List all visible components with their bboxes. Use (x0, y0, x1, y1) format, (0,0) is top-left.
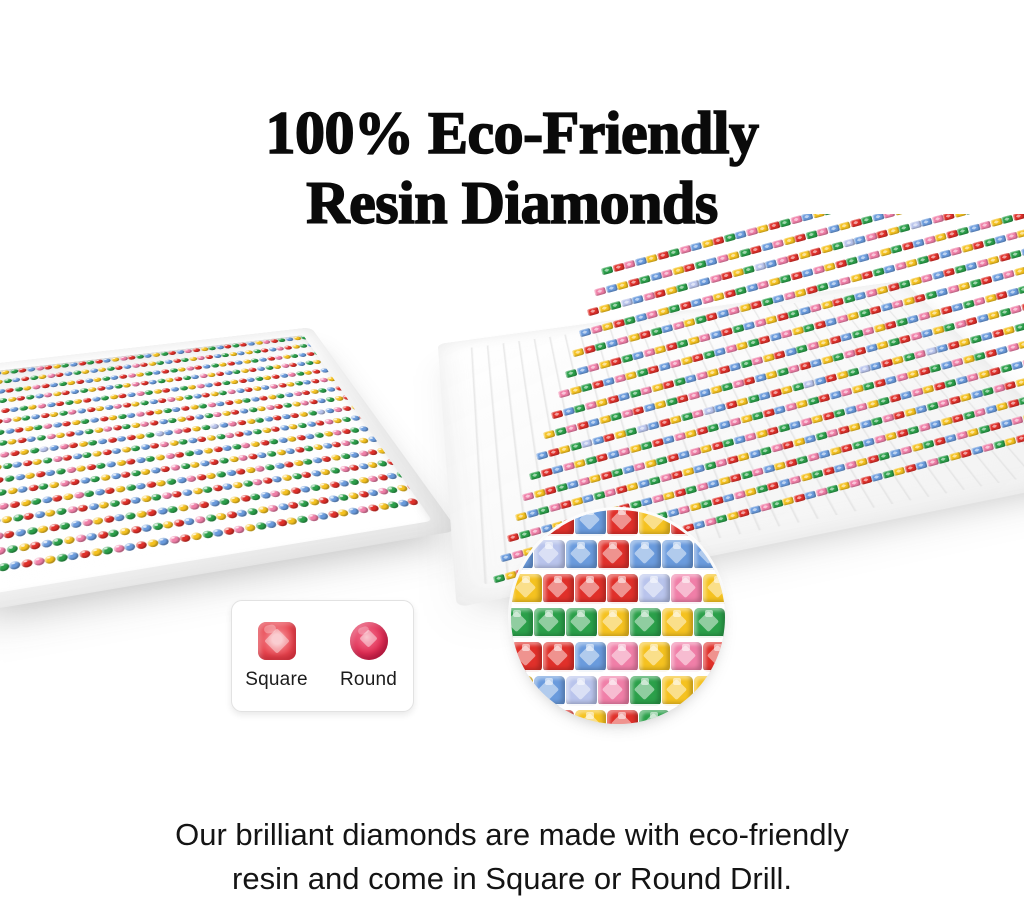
drill-bead (581, 438, 593, 447)
drill-bead (375, 412, 387, 418)
drill-bead (49, 523, 60, 532)
drill-bead (84, 428, 94, 434)
drill-bead (932, 270, 944, 279)
drill-bead (46, 433, 56, 440)
drill-bead (654, 344, 666, 353)
drill-bead (748, 449, 760, 458)
drill-bead (99, 416, 109, 422)
drill-bead (728, 306, 740, 315)
drill-bead (52, 421, 62, 427)
drill-bead (20, 448, 30, 455)
drill-bead (854, 346, 866, 355)
drill-bead (980, 331, 992, 340)
drill-bead (50, 382, 59, 387)
drill-bead (147, 344, 156, 349)
drill-bead (243, 523, 256, 532)
drill-bead (675, 283, 687, 292)
drill-bead (812, 214, 824, 219)
drill-bead (891, 299, 903, 308)
drill-bead (672, 265, 684, 274)
drill-bead (529, 471, 541, 480)
drill-bead (130, 496, 142, 504)
drill-bead (358, 372, 369, 377)
drill-bead (408, 396, 420, 402)
drill-bead (181, 489, 193, 497)
drill-bead (73, 398, 82, 404)
drill-bead (618, 447, 630, 456)
drill-bead (594, 342, 606, 351)
drill-bead (942, 214, 954, 221)
left-tray-round-drills (0, 258, 386, 618)
drill-bead (1009, 249, 1021, 258)
drill-bead (860, 215, 872, 224)
drill-bead (570, 497, 582, 506)
drill-bead (844, 405, 856, 414)
left-tray-body (0, 327, 458, 614)
drill-bead (781, 385, 793, 394)
drill-bead (342, 374, 353, 379)
drill-bead (78, 440, 88, 447)
drill-bead (998, 252, 1010, 261)
legend-item-round[interactable]: Round (336, 622, 402, 691)
drill-bead (705, 256, 717, 265)
drill-bead (566, 676, 597, 706)
drill-bead (114, 513, 126, 521)
drill-bead (359, 336, 369, 341)
bead-row-gap (511, 670, 725, 675)
page-caption: Our brilliant diamonds are made with eco… (42, 813, 982, 901)
drill-bead (734, 230, 746, 239)
drill-bead (99, 350, 108, 355)
drill-bead (402, 431, 414, 438)
drill-bead (543, 710, 574, 724)
drill-bead (0, 464, 2, 471)
drill-bead (89, 368, 98, 373)
drill-bead (627, 277, 639, 286)
drill-bead (690, 242, 702, 251)
drill-bead (817, 282, 829, 291)
drill-bead (415, 385, 426, 391)
drill-bead (71, 519, 82, 528)
drill-bead (125, 511, 137, 519)
drill-bead (913, 294, 925, 303)
drill-bead (837, 481, 849, 490)
drill-bead (720, 327, 732, 336)
drill-bead (394, 457, 407, 464)
drill-bead (738, 248, 750, 257)
drill-bead (894, 214, 906, 215)
drill-bead (969, 279, 981, 288)
drill-bead (96, 462, 107, 469)
drill-bead (911, 387, 923, 396)
drill-bead (677, 450, 689, 459)
drill-bead (898, 223, 910, 232)
drill-bead (229, 496, 241, 504)
drill-bead (931, 214, 943, 223)
drill-bead (12, 416, 21, 422)
drill-bead (598, 304, 610, 313)
drill-bead (792, 437, 804, 446)
drill-bead (660, 268, 672, 277)
drill-bead (558, 389, 570, 398)
drill-bead (29, 447, 39, 454)
drill-bead (50, 355, 59, 360)
drill-bead (140, 468, 151, 475)
drill-bead (511, 608, 533, 638)
drill-bead (909, 276, 921, 285)
drill-bead (1006, 287, 1018, 296)
drill-bead (55, 372, 64, 377)
drill-bead (825, 373, 837, 382)
drill-bead (566, 424, 578, 433)
drill-bead (632, 350, 644, 359)
drill-bead (810, 358, 822, 367)
drill-bead (79, 549, 91, 558)
drill-bead (860, 475, 872, 484)
drill-bead (1018, 395, 1024, 404)
drill-bead (140, 400, 150, 406)
drill-bead (953, 214, 965, 218)
drill-bead (928, 253, 940, 262)
bead-row (511, 710, 725, 724)
left-tray-bead-field (0, 335, 432, 595)
drill-bead (38, 374, 47, 379)
drill-bead (669, 415, 681, 424)
drill-bead (393, 432, 405, 439)
drill-bead (37, 403, 46, 409)
drill-bead (366, 402, 377, 408)
drill-bead (731, 268, 743, 277)
drill-bead (52, 456, 62, 463)
drill-bead (694, 676, 725, 706)
drill-bead (358, 392, 369, 398)
drill-bead (917, 311, 929, 320)
drill-bead (35, 366, 44, 371)
drill-bead (315, 335, 325, 338)
drill-bead (0, 476, 4, 484)
drill-bead (22, 460, 32, 467)
drill-bead (27, 436, 37, 443)
drill-bead (41, 356, 50, 361)
drill-bead (878, 452, 890, 461)
drill-bead (588, 418, 600, 427)
drill-bead (842, 238, 854, 247)
drill-bead (841, 443, 853, 452)
drill-bead (965, 317, 977, 326)
drill-bead (577, 476, 589, 485)
drill-bead (610, 412, 622, 421)
drill-bead (10, 369, 19, 374)
drill-bead (28, 484, 39, 492)
drill-bead (924, 291, 936, 300)
drill-bead (971, 445, 983, 454)
drill-bead (640, 441, 652, 450)
drill-bead (398, 367, 409, 372)
drill-bead (796, 399, 808, 408)
drill-bead (5, 428, 14, 434)
drill-bead (903, 408, 915, 417)
drill-bead (120, 498, 131, 506)
drill-bead (630, 540, 661, 570)
bead-row-gap (511, 636, 725, 641)
drill-bead (813, 320, 825, 329)
drill-bead (698, 333, 710, 342)
drill-bead (699, 388, 711, 397)
drill-bead (884, 376, 896, 385)
drill-bead (43, 392, 52, 398)
drill-bead (979, 220, 991, 229)
drill-bead (630, 676, 661, 706)
drill-bead (27, 367, 36, 372)
drill-bead (703, 510, 725, 536)
drill-bead (603, 488, 615, 497)
drill-bead (735, 341, 747, 350)
drill-bead (673, 377, 685, 386)
drill-bead (883, 214, 895, 218)
drill-bead (995, 290, 1007, 299)
drill-bead (97, 530, 109, 539)
drill-bead (511, 540, 533, 570)
drill-bead (896, 373, 908, 382)
drill-bead (900, 446, 912, 455)
drill-bead (413, 454, 426, 461)
drill-bead (145, 431, 155, 438)
drill-bead (75, 534, 87, 543)
drill-bead (160, 369, 169, 374)
drill-bead (56, 467, 66, 474)
drill-bead (658, 362, 670, 371)
drill-bead (833, 463, 845, 472)
drill-bead (994, 235, 1006, 244)
drill-bead (944, 378, 956, 387)
drill-bead (375, 401, 386, 407)
drill-bead (922, 440, 934, 449)
drill-bead (620, 353, 632, 362)
drill-bead (721, 382, 733, 391)
square-drill-icon (258, 622, 296, 660)
drill-bead (116, 435, 126, 442)
drill-bead (849, 218, 861, 227)
drill-bead (587, 362, 599, 371)
drill-bead (146, 508, 158, 516)
drill-bead (384, 410, 396, 416)
drill-bead (374, 361, 385, 366)
drill-bead (390, 368, 401, 373)
drill-bead (551, 409, 563, 418)
drill-bead (1016, 229, 1024, 238)
drill-bead (787, 309, 799, 318)
drill-bead (745, 487, 757, 496)
drill-bead (802, 268, 814, 277)
drill-bead (417, 406, 429, 412)
drill-bead (18, 368, 27, 373)
drill-bead (375, 380, 386, 385)
drill-bead (124, 542, 136, 551)
drill-bead (358, 382, 369, 387)
drill-bead (736, 397, 748, 406)
drill-bead (750, 300, 762, 309)
drill-bead (180, 405, 190, 411)
drill-bead (544, 485, 556, 494)
drill-bead (832, 297, 844, 306)
drill-bead (712, 236, 724, 245)
drill-bead (644, 459, 656, 468)
drill-bead (33, 556, 45, 566)
drill-bead (66, 353, 75, 358)
drill-bead (587, 307, 599, 316)
drill-bead (0, 502, 9, 510)
drill-bead (366, 362, 377, 367)
drill-bead (591, 380, 603, 389)
drill-bead (676, 338, 688, 347)
drill-bead (8, 360, 16, 365)
drill-bead (144, 389, 154, 395)
drill-bead (684, 374, 696, 383)
drill-bead (359, 363, 370, 368)
drill-bead (989, 422, 1001, 431)
drill-bead (135, 372, 144, 377)
drill-bead (575, 574, 606, 604)
drill-bead (569, 386, 581, 395)
drill-bead (425, 394, 433, 400)
drill-bead (155, 343, 164, 348)
drill-bead (877, 396, 889, 405)
drill-bead (909, 220, 921, 229)
drill-bead (670, 470, 682, 479)
drill-bead (572, 348, 584, 357)
drill-bead (799, 417, 811, 426)
legend-item-square[interactable]: Square (244, 622, 310, 691)
drill-bead (46, 469, 56, 476)
drill-bead (95, 406, 105, 412)
drill-bead (947, 285, 959, 294)
drill-bead (847, 367, 859, 376)
drill-bead (198, 500, 210, 508)
drill-bead (565, 368, 577, 377)
drill-bead (666, 453, 678, 462)
drill-bead (598, 676, 629, 706)
drill-bead (393, 420, 405, 426)
drill-bead (202, 338, 211, 343)
drill-bead (882, 469, 894, 478)
drill-bead (957, 226, 969, 235)
drill-bead (973, 352, 985, 361)
drill-bead (606, 394, 618, 403)
drill-bead (609, 356, 621, 365)
drill-bead (110, 375, 119, 380)
drill-bead (335, 356, 345, 361)
drill-bead (92, 516, 104, 525)
drill-bead (90, 547, 102, 556)
drill-bead (56, 507, 67, 515)
drill-bead (695, 371, 707, 380)
drill-bead (79, 388, 88, 394)
drill-bead (2, 462, 12, 469)
drill-bead (321, 349, 331, 354)
drill-bead (722, 438, 734, 447)
drill-bead (868, 250, 880, 259)
drill-bead (328, 348, 338, 353)
drill-bead (543, 642, 574, 672)
drill-bead (74, 353, 83, 358)
drill-bead (56, 553, 68, 563)
drill-bead (404, 456, 417, 463)
drill-bead (580, 383, 592, 392)
drill-bead (602, 321, 614, 330)
drill-bead (811, 469, 823, 478)
drill-bead (902, 296, 914, 305)
drill-bead (170, 386, 180, 392)
drill-bead (113, 544, 125, 553)
drill-bead (801, 214, 813, 222)
drill-bead (729, 417, 741, 426)
drill-bead (52, 494, 63, 502)
drill-bead (399, 377, 410, 382)
drill-bead (914, 349, 926, 358)
drill-bead (366, 391, 377, 397)
drill-bead (375, 435, 387, 442)
drill-bead (607, 510, 638, 536)
drill-bead (573, 459, 585, 468)
drill-bead (80, 477, 91, 485)
drill-bead (118, 374, 127, 379)
drill-bead (837, 425, 849, 434)
drill-bead (967, 428, 979, 437)
drill-bead (334, 375, 345, 380)
drill-bead (21, 415, 30, 421)
drill-bead (106, 460, 117, 467)
drill-bead (647, 420, 659, 429)
drill-bead (790, 215, 802, 224)
drill-bead (600, 470, 612, 479)
drill-bead (977, 369, 989, 378)
drill-bead (705, 312, 717, 321)
drill-bead (1004, 436, 1016, 445)
drill-bead (1014, 322, 1024, 331)
drill-bead (566, 608, 597, 638)
drill-bead (598, 608, 629, 638)
drill-bead (779, 274, 791, 283)
drill-bead (876, 285, 888, 294)
drill-bead (233, 335, 242, 339)
drill-bead (805, 230, 817, 239)
drill-bead (29, 375, 38, 380)
drill-bead (72, 370, 81, 375)
drill-bead (344, 347, 354, 352)
drill-bead (817, 338, 829, 347)
drill-bead (807, 396, 819, 405)
drill-bead (654, 400, 666, 409)
drill-bead (15, 473, 25, 481)
drill-bead (869, 305, 881, 314)
drill-bead (883, 264, 895, 273)
drill-bead (26, 394, 35, 400)
drill-bead (82, 452, 92, 459)
drill-bead (366, 413, 378, 419)
drill-bead (638, 274, 650, 283)
drill-bead (111, 448, 122, 455)
drill-bead (7, 438, 17, 445)
drill-bead (543, 574, 574, 604)
drill-bead (795, 344, 807, 353)
drill-bead (814, 431, 826, 440)
drill-bead (720, 271, 732, 280)
drill-bead (90, 475, 101, 483)
drill-bead (774, 461, 786, 470)
drill-bead (322, 335, 332, 337)
drill-bead (592, 491, 604, 500)
drill-bead (185, 475, 197, 483)
